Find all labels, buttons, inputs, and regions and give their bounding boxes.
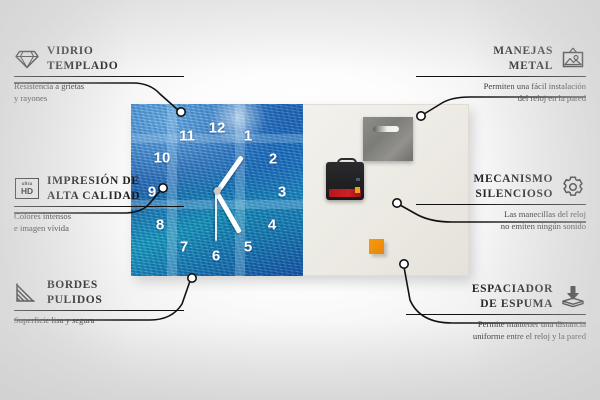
hanger-keyhole-slot [373,126,399,132]
feature-title-line1: IMPRESIÓN DE [47,174,140,189]
feature-title-line2: ALTA CALIDAD [47,189,140,204]
feature-desc-line2: uniforme entre el reloj y la pared [406,331,586,343]
clock-numeral-12: 12 [209,121,226,136]
feature-divider [406,314,586,315]
feature-title-line1: BORDES [47,278,102,293]
framed-picture-icon [560,47,586,71]
feature-desc-line1: Permiten una fácil instalación [416,81,586,93]
feature-espaciador-espuma[interactable]: ESPACIADOR DE ESPUMA Permite mantener un… [406,282,586,343]
feature-title-line2: DE ESPUMA [472,297,553,312]
feature-title-line1: VIDRIO [47,44,118,59]
polished-edge-icon [14,281,40,305]
feature-manejas-metal[interactable]: MANEJAS METAL Permiten una fácil instala… [416,44,586,105]
feature-divider [14,76,184,77]
battery-terminal [355,187,360,193]
clock-numeral-7: 7 [180,240,188,255]
feature-desc-line1: Superficie lisa y segura [14,315,184,327]
feature-title-line2: TEMPLADO [47,59,118,74]
feature-title-line1: MANEJAS [493,44,553,59]
feature-vidrio-templado[interactable]: VIDRIO TEMPLADO Resistencia a grietas y … [14,44,184,105]
clock-numeral-11: 11 [179,129,195,144]
clock-numeral-3: 3 [278,185,286,200]
clock-center-cap [214,187,221,194]
feature-divider [14,206,184,207]
foam-spacer-icon [560,285,586,309]
feature-desc-line1: Colores intensos [14,211,184,223]
feature-desc-line2: e imagen vívida [14,223,184,235]
clock-numeral-4: 4 [268,218,276,233]
clock-numeral-10: 10 [154,151,171,166]
feature-divider [416,76,586,77]
clock-numeral-1: 1 [244,129,252,144]
feature-desc-line2: del reloj en la pared [416,93,586,105]
clock-numeral-6: 6 [212,249,220,264]
foam-spacer-square [369,239,384,254]
feature-desc-line1: Permite mantener una distancia [406,319,586,331]
mechanism-hanger-loop [337,158,357,167]
mechanism-detail [356,178,360,181]
clock-numeral-5: 5 [244,240,252,255]
feature-title-line1: ESPACIADOR [472,282,553,297]
ultra-hd-icon: ultra HD [14,177,40,201]
feature-desc-line1: Las manecillas del reloj [416,209,586,221]
feature-bordes-pulidos[interactable]: BORDES PULIDOS Superficie lisa y segura [14,278,184,327]
feature-title-line2: SILENCIOSO [473,187,553,202]
ultra-hd-icon-main-text: HD [21,187,33,195]
feature-title-line2: PULIDOS [47,293,102,308]
gear-icon [560,175,586,199]
clock-second-hand [215,189,217,241]
clock-numeral-2: 2 [269,152,277,167]
battery-strip [329,189,361,197]
feature-desc-line2: no emiten ningún sonido [416,221,586,233]
feature-title-line2: METAL [493,59,553,74]
feature-desc-line2: y rayones [14,93,184,105]
feature-divider [416,204,586,205]
metal-hanger-plate [363,117,413,161]
infographic-canvas: 12 1 2 3 4 5 6 7 8 9 10 11 [0,0,600,400]
feature-mecanismo-silencioso[interactable]: MECANISMO SILENCIOSO Las manecillas del … [416,172,586,233]
feature-divider [14,310,184,311]
clock-mechanism-box [326,162,364,200]
feature-title-line1: MECANISMO [473,172,553,187]
diamond-icon [14,47,40,71]
feature-desc-line1: Resistencia a grietas [14,81,184,93]
feature-impresion-alta-calidad[interactable]: ultra HD IMPRESIÓN DE ALTA CALIDAD Color… [14,174,184,235]
